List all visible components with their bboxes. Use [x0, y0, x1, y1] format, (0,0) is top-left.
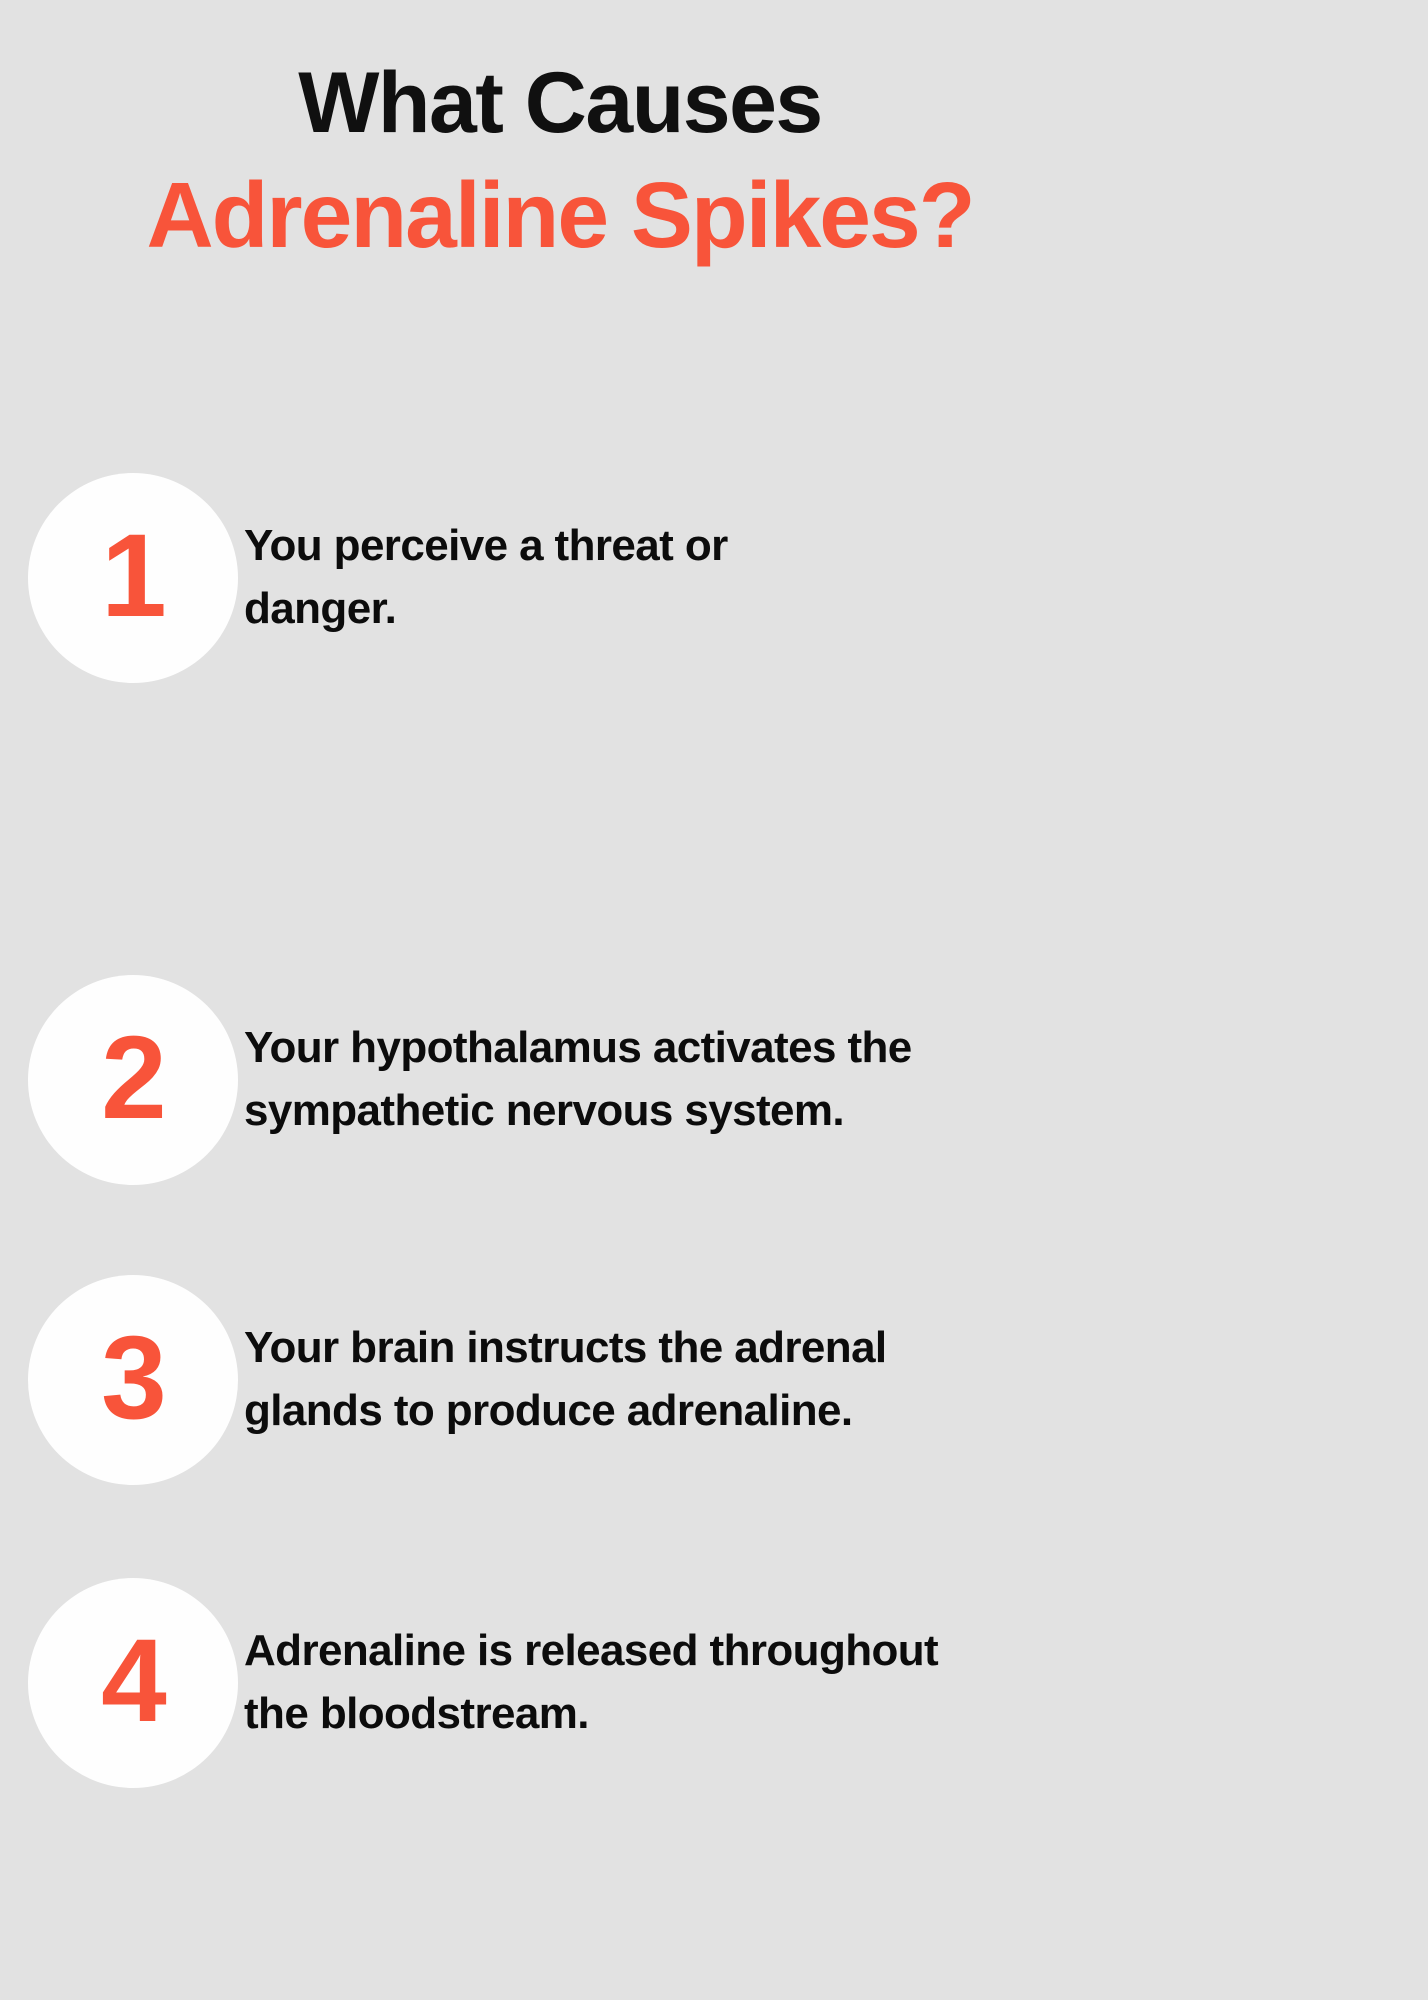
step-number-badge: 1 [28, 473, 238, 683]
step-description-line: danger. [244, 578, 1034, 641]
poster-header: What Causes Adrenaline Spikes? [0, 58, 1120, 266]
list-item: 2 Your hypothalamus activates the sympat… [0, 975, 1060, 1187]
step-number-label: 1 [101, 517, 165, 635]
step-number-badge: 3 [28, 1275, 238, 1485]
step-description-line: Your brain instructs the adrenal [244, 1317, 1034, 1380]
step-description: You perceive a threat or danger. [244, 473, 1034, 683]
step-number-label: 4 [101, 1622, 165, 1740]
step-description: Your brain instructs the adrenal glands … [244, 1275, 1034, 1485]
list-item: 4 Adrenaline is released throughout the … [0, 1578, 1060, 1790]
step-description-line: You perceive a threat or [244, 515, 1034, 578]
step-description-line: glands to produce adrenaline. [244, 1380, 1034, 1443]
infographic-poster: What Causes Adrenaline Spikes? 1 You per… [0, 0, 1428, 2000]
page-title-line-2: Adrenaline Spikes? [0, 165, 1120, 265]
list-item: 1 You perceive a threat or danger. [0, 473, 1060, 685]
step-number-badge: 2 [28, 975, 238, 1185]
step-description-line: Adrenaline is released throughout [244, 1620, 1034, 1683]
step-description: Adrenaline is released throughout the bl… [244, 1578, 1034, 1788]
page-title-line-1: What Causes [0, 58, 1120, 149]
step-number-badge: 4 [28, 1578, 238, 1788]
step-description-line: Your hypothalamus activates the [244, 1017, 1034, 1080]
list-item: 3 Your brain instructs the adrenal gland… [0, 1275, 1060, 1487]
step-description: Your hypothalamus activates the sympathe… [244, 975, 1034, 1185]
step-number-label: 2 [101, 1019, 165, 1137]
step-number-label: 3 [101, 1319, 165, 1437]
step-description-line: sympathetic nervous system. [244, 1080, 1034, 1143]
step-description-line: the bloodstream. [244, 1683, 1034, 1746]
